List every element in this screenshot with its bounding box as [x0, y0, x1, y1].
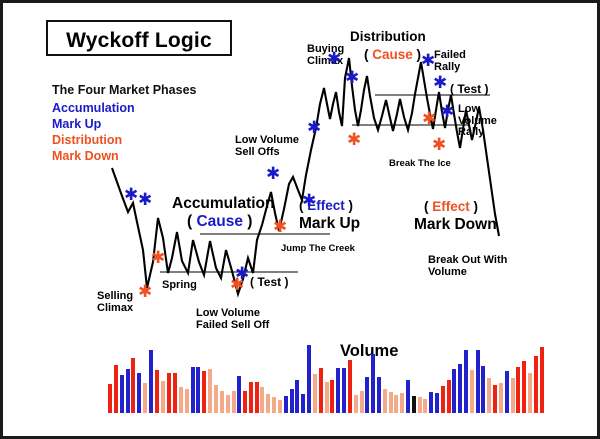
volume-bar — [191, 367, 195, 413]
volume-bar — [377, 377, 381, 413]
distribution-star-1: ✱ — [347, 132, 361, 149]
volume-bar — [330, 380, 334, 413]
low-volume-rally-star: ✱ — [440, 104, 454, 121]
volume-bar — [458, 364, 462, 413]
jump-the-creek-label: Jump The Creek — [281, 244, 355, 254]
volume-bar — [487, 378, 491, 413]
volume-bar — [325, 382, 329, 413]
volume-bar — [452, 369, 456, 413]
volume-bar — [237, 376, 241, 413]
volume-bar — [418, 397, 422, 413]
volume-bar — [266, 394, 270, 413]
volume-bar — [307, 345, 311, 413]
volume-bar — [196, 367, 200, 413]
volume-bar — [493, 385, 497, 413]
test-star: ✱ — [433, 75, 447, 92]
volume-bar — [226, 395, 230, 413]
volume-bar — [342, 368, 346, 413]
volume-bar — [290, 389, 294, 413]
volume-bar — [365, 377, 369, 413]
volume-bar — [301, 394, 305, 413]
markdown-title: Mark Down — [414, 217, 497, 233]
accumulation-title: Accumulation — [172, 196, 274, 212]
volume-bar — [429, 392, 433, 413]
volume-bar — [476, 350, 480, 413]
volume-bar — [534, 356, 538, 413]
volume-bar — [167, 373, 171, 413]
volume-bar — [406, 380, 410, 413]
volume-bar — [371, 354, 375, 413]
volume-bar — [143, 383, 147, 413]
volume-bar — [481, 366, 485, 413]
volume-bar — [131, 358, 135, 413]
volume-bar — [383, 389, 387, 413]
failed-sell-off-label: Low Volume Failed Sell Off — [196, 308, 269, 331]
volume-bar — [232, 391, 236, 413]
legend-item-markdown: Mark Down — [52, 150, 119, 163]
volume-bar — [394, 395, 398, 413]
volume-bar — [114, 365, 118, 413]
selling-climax-label: Selling Climax — [97, 291, 133, 314]
test-accumulation-label: ( Test ) — [250, 276, 288, 289]
volume-bar — [208, 369, 212, 413]
volume-bar — [260, 387, 264, 413]
volume-bar — [214, 385, 218, 413]
test-distribution-label: ( Test ) — [450, 83, 488, 96]
volume-bar — [400, 393, 404, 413]
low-volume-star: ✱ — [235, 266, 249, 283]
paren-close: ) — [470, 199, 478, 214]
volume-bar — [336, 368, 340, 413]
low-volume-sell-offs-label: Low Volume Sell Offs — [235, 135, 299, 158]
paren-close: ) — [243, 213, 252, 230]
markup-star-1: ✱ — [266, 166, 280, 183]
legend-item-accumulation: Accumulation — [52, 102, 135, 115]
volume-bar — [412, 396, 416, 413]
volume-bar — [319, 368, 323, 413]
cause-word: Cause — [196, 213, 243, 230]
volume-label: Volume — [340, 343, 398, 360]
volume-bar — [522, 361, 526, 413]
volume-bar — [185, 389, 189, 413]
accumulation-cause: ( Cause ) — [187, 214, 252, 230]
markdown-effect: ( Effect ) — [424, 200, 478, 214]
volume-bar — [243, 391, 247, 413]
volume-bar — [284, 396, 288, 413]
volume-bar — [255, 382, 259, 413]
wyckoff-chart: Wyckoff Logic The Four Market Phases Acc… — [0, 0, 600, 439]
volume-bar — [389, 392, 393, 413]
volume-bar — [155, 370, 159, 413]
volume-bar — [511, 378, 515, 413]
volume-bar — [278, 400, 282, 413]
volume-bar — [505, 371, 509, 413]
effect-word: Effect — [432, 199, 470, 214]
page-title: Wyckoff Logic — [46, 23, 232, 59]
volume-bar — [126, 369, 130, 413]
volume-bar — [179, 387, 183, 413]
volume-bar — [173, 373, 177, 413]
break-out-with-volume-label: Break Out With Volume — [428, 255, 507, 278]
volume-bar — [540, 347, 544, 413]
volume-bar — [295, 380, 299, 413]
volume-bar — [149, 350, 153, 413]
legend-item-distribution: Distribution — [52, 134, 122, 147]
break-the-ice-label: Break The Ice — [389, 159, 451, 169]
volume-bar — [423, 399, 427, 413]
blue-star-1: ✱ — [124, 187, 138, 204]
volume-bar — [161, 381, 165, 413]
failed-rally-label: Failed Rally — [434, 50, 466, 73]
volume-bar — [120, 375, 124, 413]
volume-bar — [470, 370, 474, 413]
volume-bar — [137, 373, 141, 413]
paren-close: ) — [413, 47, 421, 62]
break-ice-star-2: ✱ — [432, 137, 446, 154]
volume-bar — [464, 350, 468, 413]
paren-close: ) — [345, 198, 353, 213]
volume-bar — [528, 373, 532, 413]
spring-star: ✱ — [151, 250, 165, 267]
paren-open: ( — [364, 47, 372, 62]
failed-rally-star: ✱ — [421, 53, 435, 70]
volume-bar — [202, 371, 206, 413]
break-ice-star: ✱ — [422, 111, 436, 128]
low-volume-rally-label: Low Volume Rally — [458, 104, 497, 139]
volume-bar — [354, 395, 358, 413]
volume-bar — [441, 386, 445, 413]
legend-item-markup: Mark Up — [52, 118, 101, 131]
blue-star-2: ✱ — [138, 192, 152, 209]
buying-climax-star: ✱ — [327, 51, 341, 68]
volume-bar — [108, 384, 112, 413]
volume-bar — [249, 382, 253, 413]
markup-star-2: ✱ — [302, 193, 316, 210]
volume-bar — [447, 380, 451, 413]
volume-bar — [348, 360, 352, 413]
markup-title: Mark Up — [299, 216, 360, 232]
spring-label: Spring — [162, 280, 197, 292]
cause-word: Cause — [372, 47, 413, 62]
blue-star-3: ✱ — [345, 70, 359, 87]
distribution-cause: ( Cause ) — [364, 48, 421, 62]
volume-bar — [220, 391, 224, 413]
volume-bar — [313, 374, 317, 413]
markup-star-3: ✱ — [307, 120, 321, 137]
distribution-title: Distribution — [350, 30, 426, 44]
selling-climax-star: ✱ — [138, 284, 152, 301]
paren-open: ( — [424, 199, 432, 214]
volume-bar — [516, 367, 520, 413]
volume-bar — [272, 397, 276, 413]
jump-creek-star: ✱ — [273, 219, 287, 236]
volume-bar — [435, 393, 439, 413]
volume-bar — [499, 383, 503, 413]
legend-heading: The Four Market Phases — [52, 84, 197, 97]
volume-bar — [360, 391, 364, 413]
